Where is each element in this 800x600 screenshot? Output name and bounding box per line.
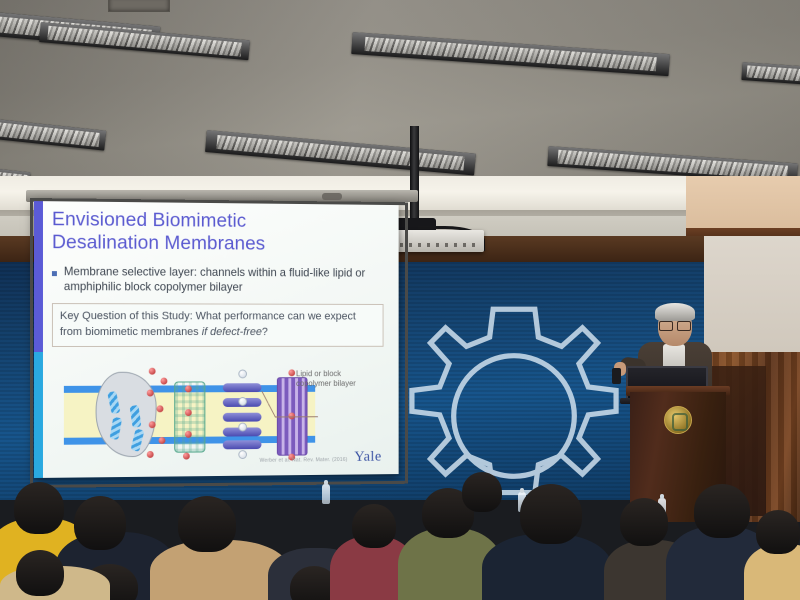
water-molecule [183, 453, 190, 460]
slide-bullet-text: Membrane selective layer: channels withi… [64, 264, 386, 296]
presenter-hair [655, 303, 695, 321]
aquaporin-protein-channel [96, 372, 157, 458]
slide-accent-bar-bottom [34, 352, 43, 478]
ceiling-vent [108, 0, 170, 12]
audience-member-head [352, 504, 396, 548]
water-molecule [288, 369, 295, 376]
figure-annotation: Lipid or block copolymer bilayer [296, 369, 391, 389]
water-molecule [238, 369, 247, 378]
carbon-nanotube-channel [174, 381, 205, 452]
water-bottle [322, 484, 330, 504]
membrane-figure: Lipid or block copolymer bilayer [58, 367, 397, 468]
audience-member-head [74, 496, 126, 550]
audience-member-head [178, 496, 236, 552]
water-molecule [238, 450, 247, 459]
water-molecule [159, 437, 166, 444]
slide-accent-bar-top [34, 200, 43, 352]
figure-annotation-line-1: Lipid or block [296, 369, 391, 379]
audience-member-head [16, 550, 64, 596]
audience-member-head [694, 484, 750, 538]
right-upper-wall [686, 176, 800, 236]
audience-member-head [14, 482, 64, 534]
figure-annotation-line-2: copolymer bilayer [296, 379, 391, 389]
projector-mount-pole [410, 126, 419, 224]
bullet-square-icon [52, 271, 57, 276]
audience-member-head [620, 498, 668, 546]
slide-title-line-2: Desalination Membranes [52, 231, 391, 256]
audience-member-head [462, 472, 502, 512]
water-molecule [149, 368, 156, 375]
water-molecule [238, 423, 247, 432]
audience-member-head [756, 510, 800, 554]
water-molecule [157, 405, 164, 412]
key-question-emphasis: if defect-free [202, 326, 262, 338]
water-molecule [185, 385, 192, 392]
water-molecule [149, 421, 156, 428]
water-molecule [185, 431, 192, 438]
water-molecule [185, 409, 192, 416]
audience-member-head [520, 484, 582, 544]
projection-screen: Envisioned Biomimetic Desalination Membr… [34, 200, 399, 478]
key-question-box: Key Question of this Study: What perform… [52, 303, 384, 346]
stacked-ring-channel [223, 381, 262, 450]
water-molecule [238, 397, 247, 406]
slide-title: Envisioned Biomimetic Desalination Membr… [52, 208, 391, 256]
slide-bullet: Membrane selective layer: channels withi… [52, 264, 391, 296]
presentation-clicker [612, 368, 621, 384]
water-molecule [161, 378, 168, 385]
institutional-seal-icon [664, 406, 692, 434]
yale-logo: Yale [354, 449, 381, 466]
key-question-text-end: ? [262, 326, 268, 338]
slide-citation: Werber et al. Nat. Rev. Mater. (2016) [260, 457, 348, 464]
slide-title-line-1: Envisioned Biomimetic [52, 208, 391, 234]
right-wall-panel [700, 236, 800, 360]
glasses-icon [659, 321, 691, 329]
audience [0, 470, 800, 600]
water-molecule [147, 451, 154, 458]
water-molecule [147, 390, 154, 397]
lecture-hall-photo: Envisioned Biomimetic Desalination Membr… [0, 0, 800, 600]
slide: Envisioned Biomimetic Desalination Membr… [34, 200, 399, 478]
